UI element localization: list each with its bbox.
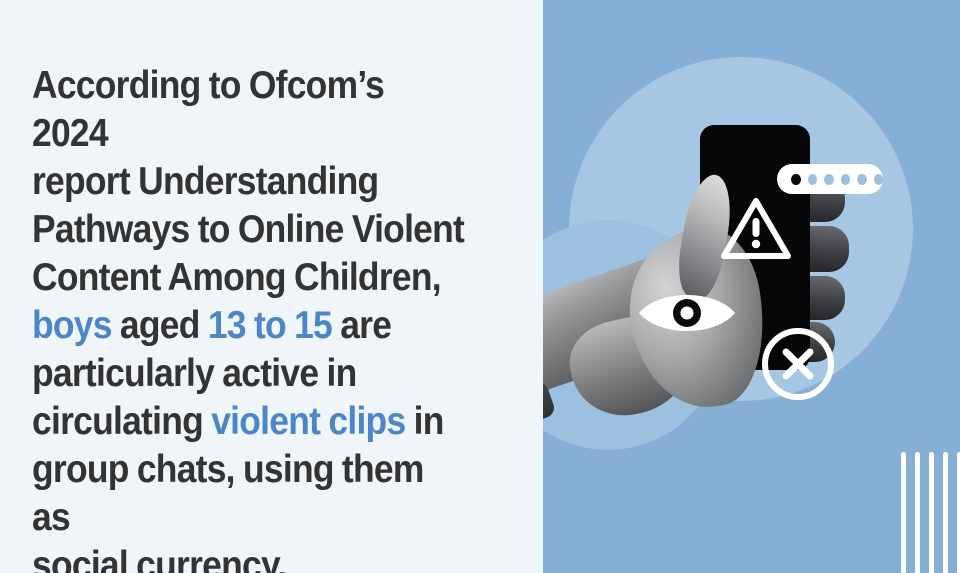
highlight-boys: boys [32,304,112,347]
quote-connector-1: aged [112,304,208,347]
quote-segment-1: According to Ofcom’s 2024 [32,64,384,155]
decorative-bars [901,452,960,573]
password-dot [857,174,867,185]
quote-panel: According to Ofcom’s 2024 report Underst… [0,0,543,573]
decorative-bar [915,452,920,573]
illustration-panel [543,0,960,573]
quote-connector-3: circulating [32,400,211,443]
quote-segment-4: Content Among Children, [32,256,441,299]
password-field-icon[interactable] [777,164,883,194]
highlight-age-range: 13 to 15 [208,304,332,347]
quote-connector-2: are [332,304,391,347]
quote-block: According to Ofcom’s 2024 report Underst… [32,62,502,573]
password-dot [874,174,884,185]
infographic-poster: According to Ofcom’s 2024 report Underst… [0,0,960,573]
decorative-bar [943,452,948,573]
quote-segment-3: Pathways to Online Violent [32,208,464,251]
decorative-bar [901,452,906,573]
warning-triangle-icon [721,196,791,260]
quote-text: According to Ofcom’s 2024 report Underst… [32,62,464,573]
quote-segment-6: particularly active in [32,352,357,395]
quote-segment-2: report Understanding [32,160,378,203]
password-dot [808,174,818,185]
highlight-violent-clips: violent clips [211,400,405,443]
decorative-bar [929,452,934,573]
quote-segment-8: group chats, using them as [32,448,424,539]
x-circle-icon[interactable] [760,326,836,402]
password-dot [824,174,834,185]
eye-icon [637,288,737,338]
quote-connector-4: in [405,400,443,443]
password-dot-filled [791,174,801,185]
password-dot [841,174,851,185]
quote-segment-9: social currency. [32,544,286,573]
